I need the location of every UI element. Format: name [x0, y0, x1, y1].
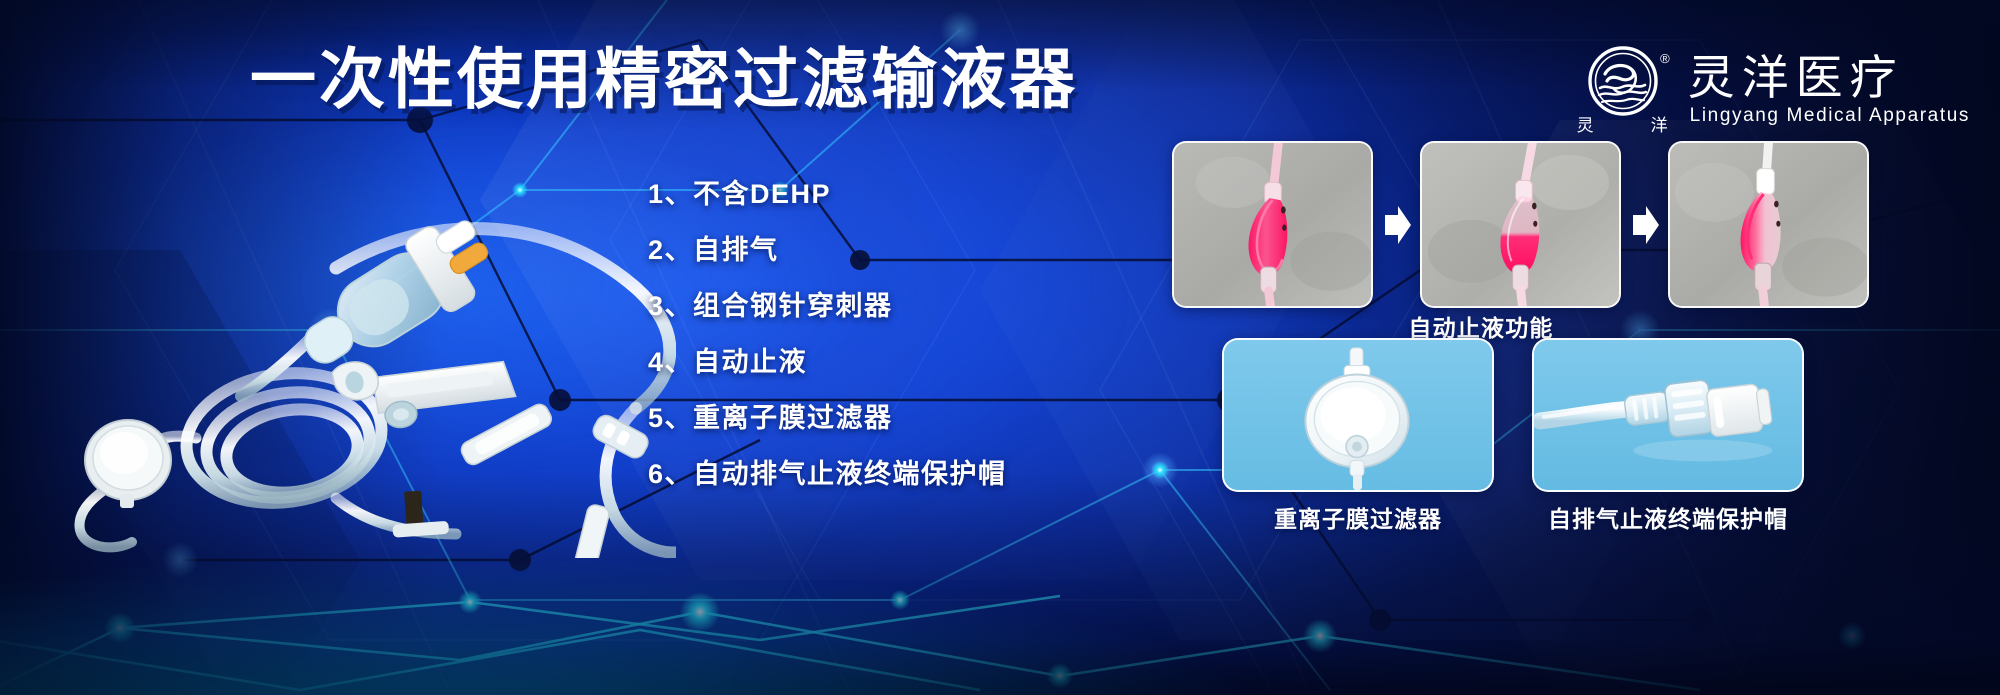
- brand-name-en: Lingyang Medical Apparatus: [1688, 105, 1970, 127]
- feature-list: 1、不含DEHP 2、自排气 3、组合钢针穿刺器 4、自动止液 5、重离子膜过滤…: [648, 172, 1007, 491]
- feature-item-3: 3、组合钢针穿刺器: [648, 284, 1007, 323]
- photo-drip-chamber-stopped: [1668, 141, 1869, 308]
- banner-root: 一次性使用精密过滤输液器 ® 灵 洋 灵洋医疗 Lingyang Medical…: [0, 0, 2000, 695]
- right-arrow-icon: [1373, 204, 1420, 246]
- caption-filter: 重离子膜过滤器: [1222, 500, 1494, 534]
- infusion-set-photo: [36, 138, 676, 558]
- bottom-tiles-row: [1222, 338, 1804, 492]
- page-title: 一次性使用精密过滤输液器: [250, 46, 1078, 112]
- bottom-captions: 重离子膜过滤器 自排气止液终端保护帽: [1222, 500, 1804, 534]
- photo-drip-chamber-half: [1420, 141, 1621, 308]
- feature-item-6: 6、自动排气止液终端保护帽: [648, 452, 1007, 491]
- caption-protective-cap: 自排气止液终端保护帽: [1532, 500, 1804, 534]
- registered-mark: ®: [1660, 52, 1670, 65]
- photo-drip-chamber-full: [1172, 141, 1373, 308]
- tile-terminal-protective-cap: [1532, 338, 1804, 492]
- right-arrow-icon-2: [1621, 204, 1668, 246]
- brand-name-cn: 灵洋医疗: [1688, 53, 1970, 102]
- feature-item-5: 5、重离子膜过滤器: [648, 396, 1007, 435]
- emblem-char-left: 灵: [1577, 111, 1595, 136]
- brand-logo: ® 灵 洋 灵洋医疗 Lingyang Medical Apparatus: [1574, 44, 1970, 136]
- emblem-char-right: 洋: [1651, 111, 1669, 136]
- tile-heavy-ion-membrane-filter: [1222, 338, 1494, 492]
- feature-item-2: 2、自排气: [648, 228, 1007, 267]
- feature-item-4: 4、自动止液: [648, 340, 1007, 379]
- auto-stop-sequence: [1172, 141, 1869, 308]
- circular-wave-emblem-icon: ® 灵 洋: [1574, 44, 1672, 136]
- feature-item-1: 1、不含DEHP: [648, 172, 1007, 211]
